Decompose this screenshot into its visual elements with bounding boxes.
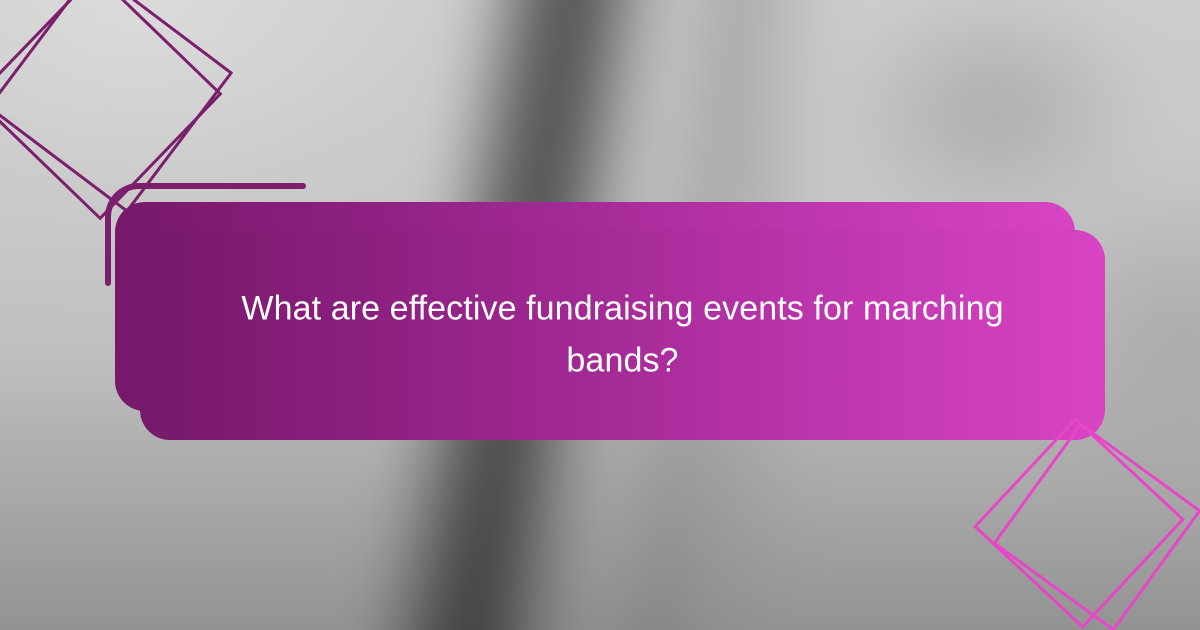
share-card-canvas: What are effective fundraising events fo… bbox=[0, 0, 1200, 630]
card-front-layer: What are effective fundraising events fo… bbox=[140, 230, 1105, 440]
page-title: What are effective fundraising events fo… bbox=[140, 283, 1105, 386]
